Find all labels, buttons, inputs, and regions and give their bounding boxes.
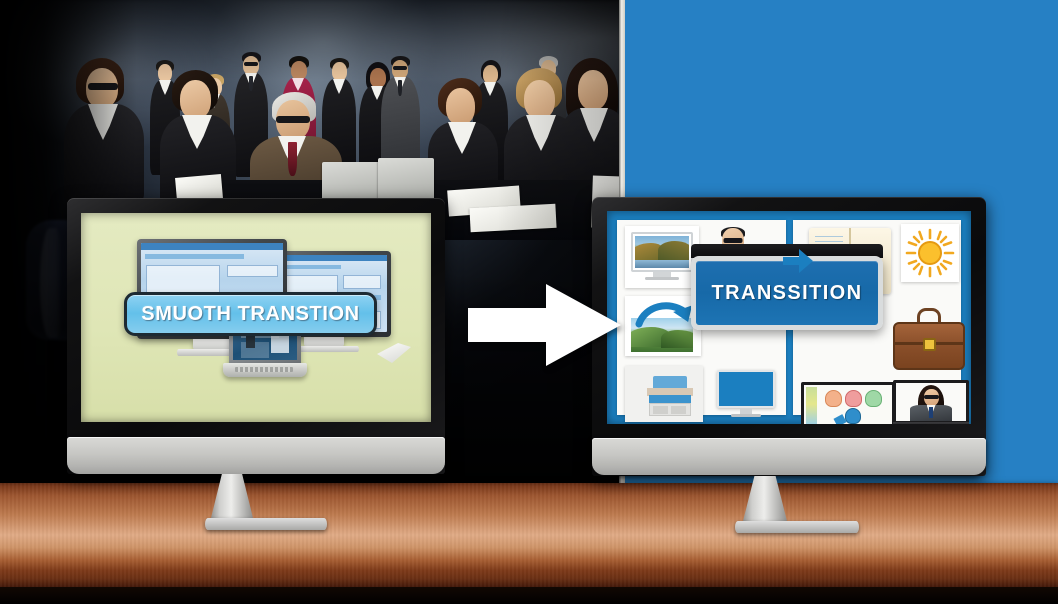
left-monitor-chin <box>67 437 445 474</box>
man-sunglasses-icon <box>724 238 743 243</box>
left-monitor[interactable]: SMUOTH TRANSTION <box>67 198 445 474</box>
blue-right-arrow-icon <box>781 246 815 276</box>
white-right-arrow-icon <box>468 284 621 366</box>
mini-monitor-frame <box>631 232 693 272</box>
sun-icon <box>905 228 955 278</box>
right-monitor-chin <box>592 438 986 475</box>
blue-monitor-screen <box>717 370 775 408</box>
mini-monitor-base <box>645 277 679 280</box>
transition-arrow <box>468 284 621 366</box>
wooden-desk <box>0 483 1058 587</box>
device-laptop-body <box>223 363 307 377</box>
tv-people-diagram-icon <box>801 382 895 424</box>
device-laptop-keyboard <box>235 367 293 372</box>
left-sign[interactable]: SMUOTH TRANSTION <box>124 292 377 336</box>
tile-sun <box>901 224 959 282</box>
right-monitor-screen[interactable]: TRANSSITION <box>607 211 971 424</box>
tile-blue-monitor <box>713 368 779 422</box>
right-monitor[interactable]: TRANSSITION <box>592 197 986 476</box>
left-sign-post <box>246 334 255 348</box>
woman-presenter-icon <box>893 380 969 424</box>
tile-briefcase <box>891 304 967 376</box>
tile-monitor-landscape <box>625 226 699 288</box>
left-screen-artwork: SMUOTH TRANSTION <box>81 213 431 422</box>
mini-landscape-photo <box>635 236 689 268</box>
briefcase-icon <box>893 308 965 372</box>
right-sign-text: TRANSSITION <box>712 282 863 305</box>
desk-wood-grain <box>0 483 1058 587</box>
tile-tv-diagram <box>801 382 895 424</box>
printer-icon <box>647 376 693 416</box>
floor-shadow <box>0 587 1058 604</box>
left-sign-text: SMUOTH TRANSTION <box>141 303 359 326</box>
tile-landscape-arrow <box>625 296 701 356</box>
left-monitor-screen[interactable]: SMUOTH TRANSTION <box>81 213 431 422</box>
left-monitor-foot <box>205 518 327 530</box>
scene-stage: SMUOTH TRANSTION <box>0 0 1058 604</box>
blue-curved-arrow-icon <box>635 298 695 336</box>
tile-printer <box>625 366 703 422</box>
tile-woman-presenter <box>893 380 969 424</box>
right-monitor-foot <box>735 521 859 533</box>
blue-monitor-base <box>731 414 761 417</box>
device-mouse <box>377 343 411 363</box>
